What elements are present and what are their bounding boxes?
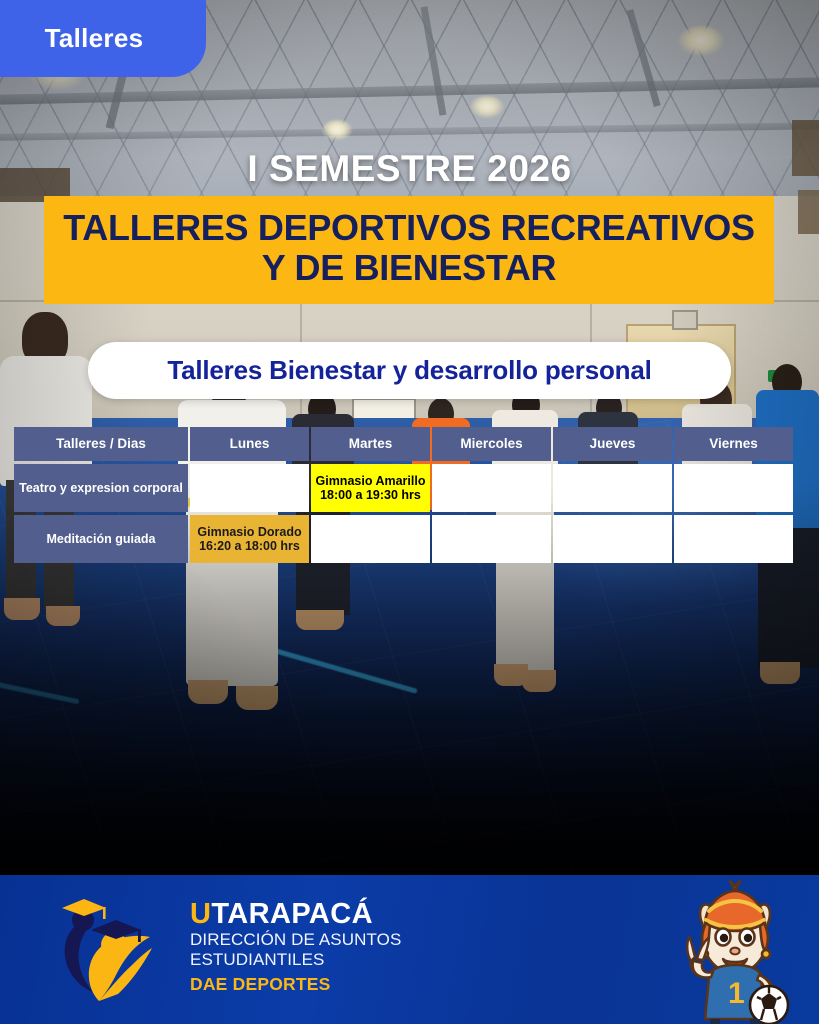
column-header-talleres: Talleres / Dias	[14, 427, 188, 461]
main-title-line-1: TALLERES DEPORTIVOS RECREATIVOS	[54, 208, 764, 248]
ceiling-lamp	[678, 26, 724, 56]
poster-canvas: Talleres I SEMESTRE 2026 TALLERES DEPORT…	[0, 0, 819, 1024]
uta-logo-icon	[46, 893, 166, 1005]
footer-bar: UTARAPACÁ DIRECCIÓN DE ASUNTOS ESTUDIANT…	[0, 875, 819, 1024]
org-department-line-2: ESTUDIANTILES	[190, 950, 401, 970]
org-name: UTARAPACÁ	[190, 899, 401, 930]
column-header-jueves: Jueves	[553, 427, 672, 461]
column-header-miercoles: Miercoles	[432, 427, 551, 461]
schedule-body: Teatro y expresion corporal Gimnasio Ama…	[14, 464, 793, 563]
workshop-name: Teatro y expresion corporal	[14, 464, 188, 512]
ceiling-lamp	[470, 96, 504, 118]
schedule-cell-empty	[553, 515, 672, 563]
schedule-cell-empty	[674, 515, 793, 563]
alpaca-mascot-icon: 1	[669, 879, 801, 1024]
schedule-cell-empty	[432, 515, 551, 563]
schedule-header-row: Talleres / Dias Lunes Martes Miercoles J…	[14, 427, 793, 461]
schedule-cell-empty	[432, 464, 551, 512]
cell-time: 16:20 a 18:00 hrs	[193, 539, 306, 553]
workshop-name: Meditación guiada	[14, 515, 188, 563]
column-header-martes: Martes	[311, 427, 430, 461]
subtitle-pill: Talleres Bienestar y desarrollo personal	[88, 342, 731, 399]
table-row: Teatro y expresion corporal Gimnasio Ama…	[14, 464, 793, 512]
talleres-tab-label: Talleres	[45, 23, 144, 54]
schedule-cell-filled: Gimnasio Dorado 16:20 a 18:00 hrs	[190, 515, 309, 563]
column-header-lunes: Lunes	[190, 427, 309, 461]
schedule-cell-empty	[311, 515, 430, 563]
schedule-cell-filled: Gimnasio Amarillo 18:00 a 19:30 hrs	[311, 464, 430, 512]
org-name-u: U	[190, 898, 211, 930]
organization-text: UTARAPACÁ DIRECCIÓN DE ASUNTOS ESTUDIANT…	[190, 899, 401, 995]
org-unit: DAE DEPORTES	[190, 974, 401, 995]
schedule-table: Talleres / Dias Lunes Martes Miercoles J…	[12, 424, 795, 566]
ceiling-lamp	[322, 120, 352, 140]
org-name-rest: TARAPACÁ	[211, 898, 373, 930]
talleres-tab[interactable]: Talleres	[0, 0, 206, 77]
main-title-band: TALLERES DEPORTIVOS RECREATIVOS Y DE BIE…	[44, 196, 774, 304]
svg-text:1: 1	[728, 977, 745, 1010]
subtitle-pill-label: Talleres Bienestar y desarrollo personal	[167, 355, 651, 386]
schedule-cell-empty	[674, 464, 793, 512]
main-title-line-2: Y DE BIENESTAR	[54, 248, 764, 288]
org-department-line-1: DIRECCIÓN DE ASUNTOS	[190, 930, 401, 950]
cell-venue: Gimnasio Dorado	[193, 525, 306, 539]
cell-venue: Gimnasio Amarillo	[314, 474, 427, 488]
table-row: Meditación guiada Gimnasio Dorado 16:20 …	[14, 515, 793, 563]
wall-fixture	[672, 310, 698, 330]
schedule-cell-empty	[190, 464, 309, 512]
schedule-cell-empty	[553, 464, 672, 512]
semester-heading: I SEMESTRE 2026	[0, 148, 819, 190]
column-header-viernes: Viernes	[674, 427, 793, 461]
cell-time: 18:00 a 19:30 hrs	[314, 488, 427, 502]
wall-panel	[798, 190, 819, 234]
